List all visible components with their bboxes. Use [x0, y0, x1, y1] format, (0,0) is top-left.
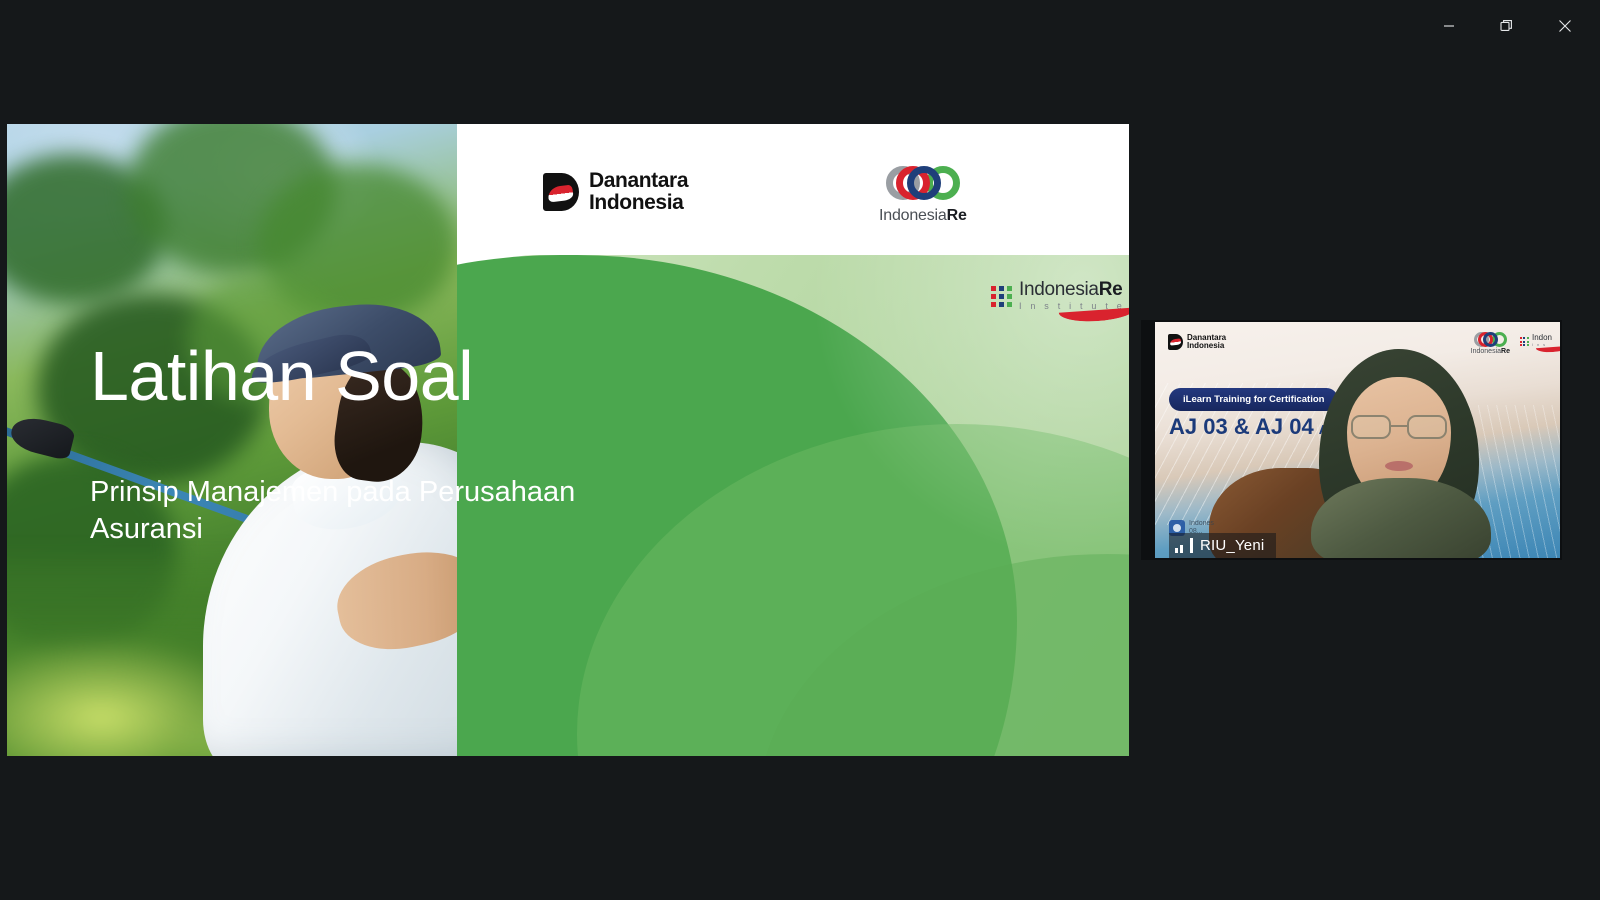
video-course-code: AJ 03 & AJ 04 — [1169, 414, 1314, 440]
window-titlebar — [0, 0, 1600, 52]
institute-prefix: Indonesia — [1019, 279, 1099, 300]
institute-main-line: IndonesiaRe — [1019, 280, 1125, 299]
participant-video-tile[interactable]: Danantara Indonesia IndonesiaRe — [1141, 320, 1562, 560]
dot-red — [991, 294, 996, 299]
video-institute-wordmark: Indon I n s — [1532, 334, 1552, 347]
participant-name-bar: RIU_Yeni — [1169, 533, 1276, 558]
institute-suffix: Re — [1099, 279, 1123, 300]
video-danantara-mark-icon — [1168, 334, 1183, 350]
glasses-bridge — [1391, 425, 1407, 427]
danantara-mark-icon — [543, 173, 579, 211]
ring-navy — [907, 166, 941, 200]
danantara-line2: Indonesia — [589, 192, 688, 214]
dot-red — [1520, 344, 1522, 346]
dot-navy — [999, 286, 1004, 291]
participant-mouth — [1385, 461, 1413, 471]
presentation-slide[interactable]: Latihan Soal Prinsip Manajemen pada Peru… — [7, 124, 1129, 756]
video-institute-main-line: Indon — [1532, 334, 1552, 342]
close-button[interactable] — [1542, 10, 1588, 42]
dot-green — [1527, 344, 1529, 346]
indonesia-re-rings-icon — [886, 166, 960, 202]
danantara-logo: Danantara Indonesia — [543, 170, 688, 214]
dot-green — [1007, 302, 1012, 307]
dot-red — [1520, 341, 1522, 343]
signal-bar-2 — [1180, 545, 1183, 553]
institute-wordmark: IndonesiaRe I n s t i t u t e — [1019, 280, 1125, 311]
video-danantara-logo: Danantara Indonesia — [1168, 334, 1226, 351]
danantara-wordmark: Danantara Indonesia — [589, 170, 688, 214]
indonesia-re-suffix: Re — [947, 207, 967, 224]
dot-red — [1520, 337, 1522, 339]
signal-bar-4 — [1190, 538, 1193, 553]
participant-name: RIU_Yeni — [1200, 537, 1264, 554]
video-danantara-wordmark: Danantara Indonesia — [1187, 334, 1226, 351]
video-frame: Danantara Indonesia IndonesiaRe — [1155, 322, 1560, 558]
glasses-lens-left — [1351, 415, 1391, 439]
dot-green — [1007, 286, 1012, 291]
glasses-lens-right — [1407, 415, 1447, 439]
dot-navy — [1523, 337, 1525, 339]
minimize-icon — [1443, 20, 1455, 32]
slide-text-block: Latihan Soal Prinsip Manajemen pada Peru… — [90, 340, 660, 548]
dot-green — [1007, 294, 1012, 299]
dot-navy — [1523, 344, 1525, 346]
dot-red — [991, 302, 996, 307]
close-icon — [1558, 19, 1572, 33]
participant-figure — [1305, 343, 1495, 558]
restore-icon — [1500, 19, 1514, 33]
signal-bar-1 — [1175, 548, 1178, 553]
danantara-line1: Danantara — [589, 170, 688, 192]
dot-navy — [1523, 341, 1525, 343]
indonesia-re-wordmark: IndonesiaRe — [879, 207, 967, 225]
restore-button[interactable] — [1484, 10, 1530, 42]
signal-strength-icon — [1175, 538, 1193, 553]
slide-subtitle: Prinsip Manajemen pada Perusahaan Asuran… — [90, 474, 660, 548]
video-dot-matrix-icon — [1520, 337, 1529, 346]
video-danantara-line2: Indonesia — [1187, 342, 1226, 350]
dot-navy — [999, 302, 1004, 307]
minimize-button[interactable] — [1426, 10, 1472, 42]
indonesia-re-logo: IndonesiaRe — [879, 166, 967, 225]
video-institute-logo: Indon I n s — [1520, 334, 1552, 347]
dot-green — [1527, 337, 1529, 339]
avatar-label-line1: Indones — [1189, 520, 1214, 528]
dot-navy — [999, 294, 1004, 299]
participant-glasses — [1351, 415, 1447, 439]
dot-green — [1527, 341, 1529, 343]
dot-red — [991, 286, 996, 291]
indonesia-re-institute-logo: IndonesiaRe I n s t i t u t e — [991, 280, 1125, 311]
avatar-dot — [1173, 524, 1181, 532]
dot-matrix-icon — [991, 286, 1012, 307]
slide-logo-header: Danantara Indonesia IndonesiaRe — [7, 124, 1129, 255]
slide-title: Latihan Soal — [90, 340, 660, 414]
indonesia-re-prefix: Indonesia — [879, 207, 947, 224]
video-ir-suffix: Re — [1501, 348, 1510, 355]
